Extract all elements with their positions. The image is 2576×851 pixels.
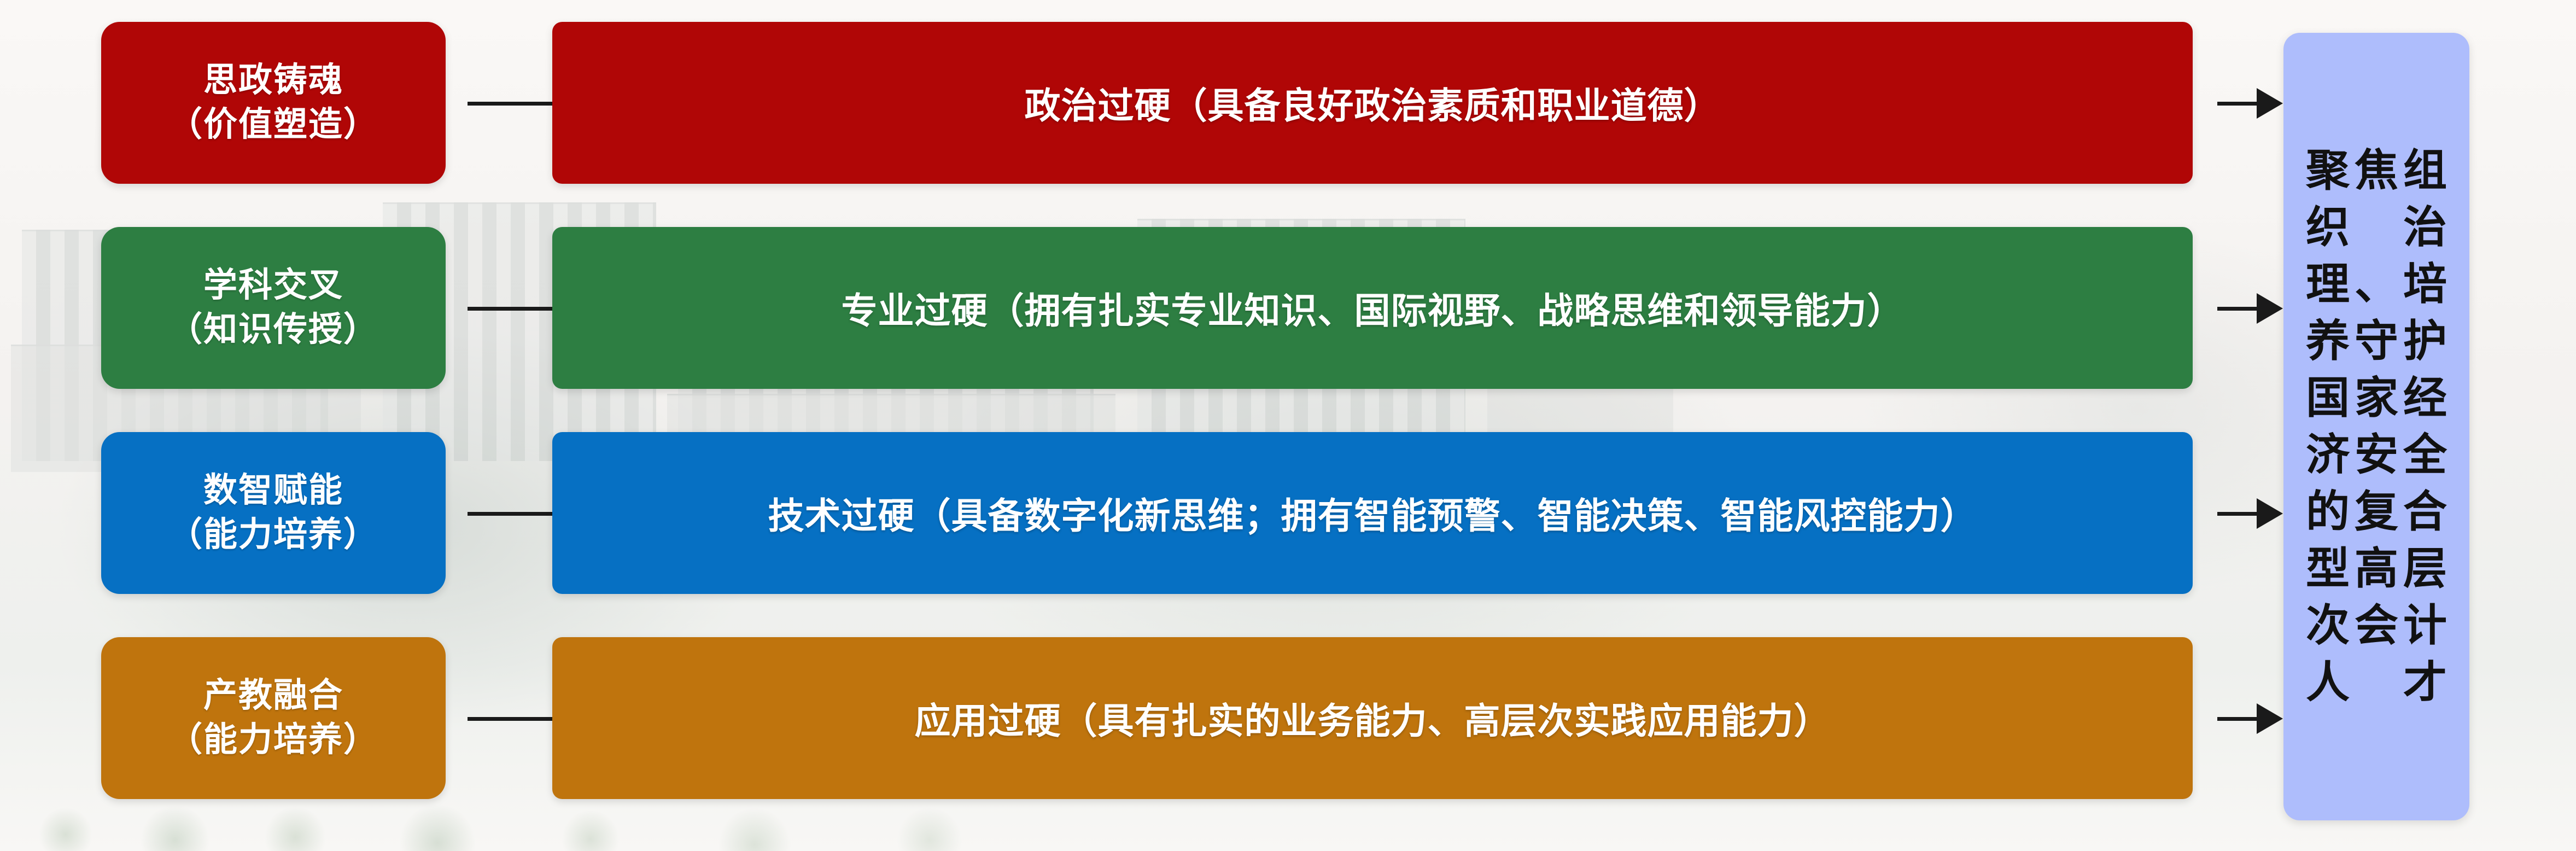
arrow-right-icon [2217, 305, 2283, 311]
pathway-tag-subtitle: （能力培养） [168, 718, 378, 762]
pathway-tag-professional[interactable]: 学科交叉 （知识传授） [101, 227, 446, 389]
outcome-panel[interactable]: 聚焦组织治理、培养守护国家经济安全的复合型高层次会计人才 [2283, 33, 2469, 820]
flow-row-professional: 学科交叉 （知识传授） 专业过硬（拥有扎实专业知识、国际视野、战略思维和领导能力… [0, 227, 2576, 389]
pathway-tag-title: 数智赋能 [203, 469, 343, 513]
competency-bar-professional[interactable]: 专业过硬（拥有扎实专业知识、国际视野、战略思维和领导能力） [552, 227, 2193, 389]
arrow-right-icon [2217, 100, 2283, 106]
diagram-canvas: 思政铸魂 （价值塑造） 政治过硬（具备良好政治素质和职业道德） 学科交叉 （知识… [0, 0, 2576, 851]
competency-bar-political[interactable]: 政治过硬（具备良好政治素质和职业道德） [552, 22, 2193, 184]
competency-bar-label: 政治过硬（具备良好政治素质和职业道德） [1025, 77, 1721, 129]
pathway-tag-subtitle: （知识传授） [168, 308, 378, 352]
competency-bar-technical[interactable]: 技术过硬（具备数字化新思维；拥有智能预警、智能决策、智能风控能力） [552, 432, 2193, 594]
pathway-tag-technical[interactable]: 数智赋能 （能力培养） [101, 432, 446, 594]
arrow-right-icon [2217, 510, 2283, 516]
flow-row-technical: 数智赋能 （能力培养） 技术过硬（具备数字化新思维；拥有智能预警、智能决策、智能… [0, 432, 2576, 594]
arrow-right-icon [2217, 715, 2283, 721]
outcome-panel-label: 聚焦组织治理、培养守护国家经济安全的复合型高层次会计人才 [2306, 142, 2447, 711]
pathway-tag-applied[interactable]: 产教融合 （能力培养） [101, 637, 446, 799]
competency-bar-label: 专业过硬（拥有扎实专业知识、国际视野、战略思维和领导能力） [842, 282, 1904, 334]
pathway-tag-title: 学科交叉 [203, 264, 343, 308]
flow-row-political: 思政铸魂 （价值塑造） 政治过硬（具备良好政治素质和职业道德） [0, 22, 2576, 184]
pathway-tag-title: 思政铸魂 [203, 59, 343, 103]
competency-bar-label: 技术过硬（具备数字化新思维；拥有智能预警、智能决策、智能风控能力） [768, 487, 1977, 539]
pathway-tag-subtitle: （价值塑造） [168, 103, 378, 147]
competency-bar-applied[interactable]: 应用过硬（具有扎实的业务能力、高层次实践应用能力） [552, 637, 2193, 799]
pathway-tag-subtitle: （能力培养） [168, 513, 378, 557]
competency-bar-label: 应用过硬（具有扎实的业务能力、高层次实践应用能力） [915, 692, 1831, 744]
pathway-tag-political[interactable]: 思政铸魂 （价值塑造） [101, 22, 446, 184]
flow-row-applied: 产教融合 （能力培养） 应用过硬（具有扎实的业务能力、高层次实践应用能力） [0, 637, 2576, 799]
pathway-tag-title: 产教融合 [203, 674, 343, 718]
